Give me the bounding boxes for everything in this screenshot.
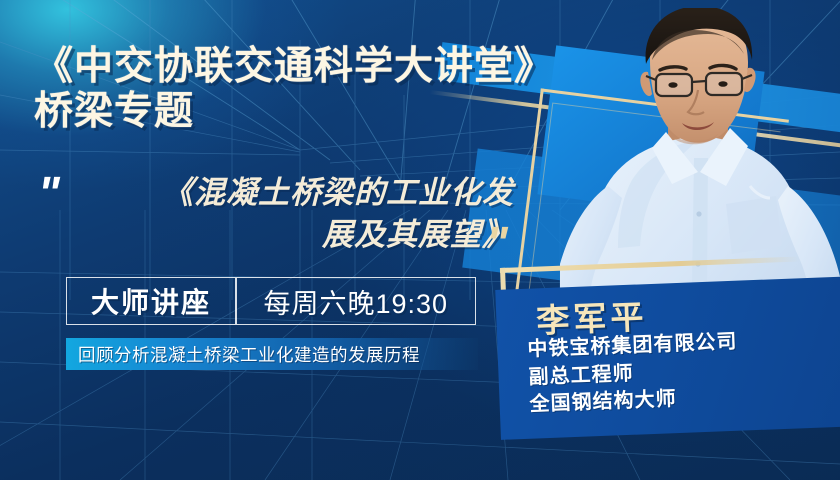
speaker-info-panel: 李军平 中铁宝桥集团有限公司 副总工程师 全国钢结构大师 — [495, 276, 840, 440]
lecture-time: 每周六晚19:30 — [237, 282, 476, 321]
page-title: 《中交协联交通科学大讲堂》 桥梁专题 — [34, 44, 554, 134]
headline-line-1: 《中交协联交通科学大讲堂》 — [34, 45, 554, 88]
quote-open-icon: " — [38, 170, 57, 216]
subtitle-text: 《混凝土桥梁的工业化发 展及其展望》 — [84, 172, 514, 256]
headline-line-2: 桥梁专题 — [34, 89, 554, 134]
description-text: 回顾分析混凝土桥梁工业化建造的发展历程 — [66, 342, 420, 367]
description-bar: 回顾分析混凝土桥梁工业化建造的发展历程 — [66, 338, 478, 370]
quote-close-icon: " — [486, 220, 505, 266]
lecture-info-box: 大师讲座 每周六晚19:30 — [66, 277, 476, 325]
subtitle-line-1: 《混凝土桥梁的工业化发 — [162, 175, 514, 210]
lecture-label: 大师讲座 — [67, 281, 235, 321]
speaker-credentials: 中铁宝桥集团有限公司 副总工程师 全国钢结构大师 — [527, 329, 740, 420]
lecture-poster: 《中交协联交通科学大讲堂》 桥梁专题 " 《混凝土桥梁的工业化发 展及其展望》 … — [0, 0, 840, 480]
